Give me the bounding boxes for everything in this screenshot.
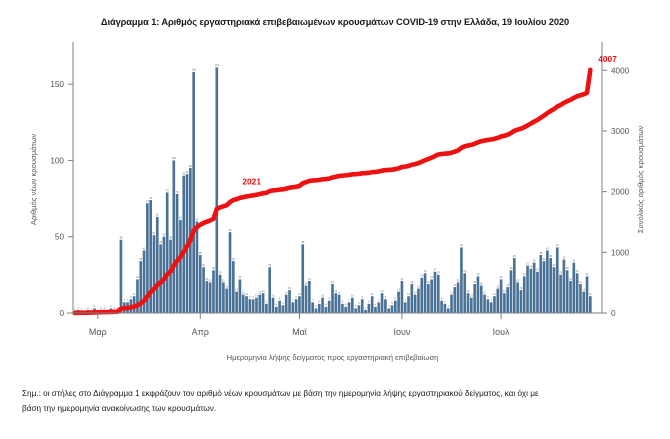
bar-value-label: 12 <box>483 290 486 294</box>
bar <box>391 305 394 313</box>
bar <box>285 295 288 313</box>
bar-value-label: 60 <box>196 217 199 221</box>
bar-value-label: 79 <box>166 188 169 192</box>
bar-value-label: 12 <box>414 290 417 294</box>
bar-value-label: 7 <box>312 298 314 302</box>
bar <box>368 304 371 313</box>
bar <box>543 261 546 313</box>
bar <box>166 192 169 313</box>
bar-value-label: 41 <box>546 246 549 250</box>
bar <box>252 299 255 313</box>
bar <box>411 284 414 313</box>
bar-value-label: 26 <box>424 269 427 273</box>
bar-value-label: 28 <box>566 266 569 270</box>
bar-value-label: 7 <box>490 298 492 302</box>
x-tick-label: Ιουν <box>393 327 410 337</box>
y-tick-label-right: 3000 <box>611 127 630 136</box>
bar <box>582 292 585 313</box>
bar-value-label: 2 <box>365 306 367 310</box>
bar <box>553 267 556 313</box>
bar-value-label: 3 <box>388 304 390 308</box>
bar-value-label: 9 <box>362 295 364 299</box>
bar <box>348 302 351 313</box>
bar-value-label: 11 <box>371 292 374 296</box>
bar <box>394 301 397 313</box>
bar-value-label: 48 <box>169 236 172 240</box>
bar <box>374 307 377 313</box>
bar <box>341 304 344 313</box>
bar <box>470 298 473 313</box>
bar <box>530 269 533 313</box>
bar-value-label: 2 <box>104 306 106 310</box>
bar <box>272 298 275 313</box>
y-axis-title-left: Αριθμός νέων κρουσμάτων <box>29 134 38 225</box>
bar <box>483 295 486 313</box>
bar <box>453 287 456 313</box>
bar <box>480 286 483 313</box>
bar-value-label: 38 <box>199 251 202 255</box>
bar-value-label: 3 <box>110 304 112 308</box>
bar-value-label: 43 <box>556 243 559 247</box>
bar-value-label: 11 <box>245 292 248 296</box>
bar <box>331 284 334 313</box>
bar <box>288 290 291 313</box>
bar-value-label: 13 <box>503 289 506 293</box>
bar <box>229 232 232 313</box>
bar <box>209 282 212 313</box>
bar <box>301 244 304 313</box>
bar <box>344 307 347 313</box>
bar-value-label: 61 <box>179 216 182 220</box>
bar-value-label: 2 <box>77 306 79 310</box>
bar-value-label: 7 <box>378 298 380 302</box>
y-axis-title-right: Συνολικός αριθμός κρουσμάτων <box>636 126 645 234</box>
bar-value-label: 11 <box>298 292 301 296</box>
bar-value-label: 34 <box>232 257 235 261</box>
bar-value-label: 20 <box>457 278 460 282</box>
bar <box>407 296 410 313</box>
bar-value-label: 7 <box>127 298 129 302</box>
bar-value-label: 9 <box>487 295 489 299</box>
bar <box>153 235 156 313</box>
bar-value-label: 48 <box>119 236 122 240</box>
bar-value-label: 91 <box>186 170 189 174</box>
bar-value-label: 25 <box>559 271 562 275</box>
bar-value-label: 2 <box>100 306 102 310</box>
bar-value-label: 11 <box>589 292 592 296</box>
bar <box>523 276 526 313</box>
bar-value-label: 21 <box>400 277 403 281</box>
bar <box>586 276 589 313</box>
bar-value-label: 12 <box>285 290 288 294</box>
bar-value-label: 13 <box>262 289 265 293</box>
bar <box>384 299 387 313</box>
annotation-label: 4007 <box>598 54 617 64</box>
bar-value-label: 22 <box>500 275 503 279</box>
bar <box>255 298 258 313</box>
bar <box>503 293 506 313</box>
bar-value-label: 19 <box>473 280 476 284</box>
bar <box>311 302 314 313</box>
bar <box>424 273 427 313</box>
bar <box>463 273 466 313</box>
bar-value-label: 22 <box>430 275 433 279</box>
chart-plot-area: 1212131223224877911223441727451634550794… <box>0 0 670 439</box>
bar-value-label: 53 <box>229 228 232 232</box>
chart-footnote: Σημ.: οι στήλες στο Διάγραμμα 1 εκφράζου… <box>22 386 652 416</box>
bar <box>242 295 245 313</box>
bar <box>460 247 463 313</box>
bar <box>282 305 285 313</box>
annotation-label: 2021 <box>242 176 261 186</box>
bar <box>354 308 357 313</box>
bar-value-label: 26 <box>463 269 466 273</box>
bar <box>526 266 529 313</box>
bar-value-label: 25 <box>437 271 440 275</box>
bar-value-label: 9 <box>385 295 387 299</box>
bar-value-label: 3 <box>315 304 317 308</box>
bar-value-label: 16 <box>496 284 499 288</box>
bar <box>305 286 308 313</box>
bar <box>493 296 496 313</box>
bar <box>576 273 579 313</box>
x-tick-label: Ιουλ <box>493 327 510 337</box>
bar <box>338 295 341 313</box>
bar-value-label: 5 <box>282 301 284 305</box>
bar <box>437 275 440 313</box>
bar <box>510 270 513 313</box>
bar <box>202 267 205 313</box>
bar-value-label: 21 <box>308 277 311 281</box>
bar-value-label: 33 <box>533 258 536 262</box>
bar <box>377 302 380 313</box>
bar <box>536 272 539 313</box>
bar <box>268 267 271 313</box>
bar <box>182 176 185 313</box>
bar <box>315 308 318 313</box>
bar-value-label: 100 <box>172 156 177 160</box>
bar <box>490 302 493 313</box>
bar-value-label: 41 <box>143 246 146 250</box>
bar <box>196 221 199 313</box>
bar-value-label: 45 <box>301 240 304 244</box>
bar <box>447 308 450 313</box>
bar-value-label: 11 <box>407 292 410 296</box>
bar-value-label: 21 <box>569 277 572 281</box>
bar-value-label: 6 <box>266 300 268 304</box>
bar-value-label: 27 <box>536 268 539 272</box>
bar <box>404 302 407 313</box>
bar-value-label: 8 <box>395 297 397 301</box>
bar-value-label: 34 <box>543 257 546 261</box>
bar-value-label: 12 <box>338 290 341 294</box>
y-tick-label-left: 0 <box>59 309 64 318</box>
bar-value-label: 17 <box>506 283 509 287</box>
bar <box>176 194 179 313</box>
bar <box>321 298 324 313</box>
bar <box>520 290 523 313</box>
bar-value-label: 17 <box>453 283 456 287</box>
bar <box>192 72 195 313</box>
bar-value-label: 24 <box>523 272 526 276</box>
bar-value-label: 5 <box>391 301 393 305</box>
bar-value-label: 13 <box>467 289 470 293</box>
bar-value-label: 51 <box>153 231 156 235</box>
bar <box>513 258 516 313</box>
bar-value-label: 10 <box>272 294 275 298</box>
bar <box>420 278 423 313</box>
bar-value-label: 6 <box>368 300 370 304</box>
bar <box>245 296 248 313</box>
bar-value-label: 10 <box>321 294 324 298</box>
bar-value-label: 30 <box>553 263 556 267</box>
bar <box>397 292 400 313</box>
bar <box>434 272 437 313</box>
bar <box>569 281 572 313</box>
bar <box>179 220 182 313</box>
bar-value-label: 26 <box>576 269 579 273</box>
bar <box>275 307 278 313</box>
bar <box>262 293 265 313</box>
bar <box>298 296 301 313</box>
bar <box>496 289 499 313</box>
bar <box>440 301 443 313</box>
footnote-line-2: βάση την ημερομηνία ανακοίνωσης των κρου… <box>22 401 652 416</box>
bar-value-label: 4 <box>276 303 278 307</box>
bar <box>444 304 447 313</box>
bar <box>206 281 209 313</box>
y-tick-label-left: 50 <box>55 233 65 242</box>
bar <box>212 270 215 313</box>
y-tick-label-right: 2000 <box>611 188 630 197</box>
bar-value-label: 158 <box>191 68 196 72</box>
bar-value-label: 11 <box>493 292 496 296</box>
bar-value-label: 29 <box>529 265 532 269</box>
bar <box>430 279 433 313</box>
bar <box>278 301 281 313</box>
bar-value-label: 19 <box>410 280 413 284</box>
bar-value-label: 24 <box>477 272 480 276</box>
bar-value-label: 95 <box>189 164 192 168</box>
bar <box>318 304 321 313</box>
bar-value-label: 11 <box>133 292 136 296</box>
bar-value-label: 45 <box>159 240 162 244</box>
bar-value-label: 78 <box>176 190 179 194</box>
bar <box>120 240 123 313</box>
bar <box>539 255 542 313</box>
bar <box>473 284 476 313</box>
bar <box>589 296 592 313</box>
bar <box>325 307 328 313</box>
bar <box>361 299 364 313</box>
y-tick-label-right: 4000 <box>611 66 630 75</box>
bar-value-label: 18 <box>480 281 483 285</box>
bar-value-label: 6 <box>342 300 344 304</box>
bar-value-label: 7 <box>348 298 350 302</box>
bar-value-label: 6 <box>319 300 321 304</box>
bar-value-label: 36 <box>549 254 552 258</box>
bar-value-label: 3 <box>447 304 449 308</box>
bar-value-label: 2 <box>114 306 116 310</box>
bar <box>215 67 218 313</box>
bar-value-label: 16 <box>417 284 420 288</box>
bar <box>358 305 361 313</box>
bar-value-label: 38 <box>539 251 542 255</box>
bar-value-label: 36 <box>513 254 516 258</box>
bar-value-label: 19 <box>427 280 430 284</box>
bar-value-label: 8 <box>279 297 281 301</box>
bar <box>235 292 238 313</box>
bar-value-label: 161 <box>215 63 220 67</box>
bar <box>556 247 559 313</box>
bar <box>265 304 268 313</box>
bar <box>225 289 228 313</box>
bar-value-label: 35 <box>562 255 565 259</box>
bar <box>239 279 242 313</box>
bar-value-label: 8 <box>441 297 443 301</box>
bar-value-label: 7 <box>292 298 294 302</box>
bar-value-label: 3 <box>355 304 357 308</box>
bar-value-label: 19 <box>331 280 334 284</box>
bar-value-label: 4 <box>345 303 347 307</box>
bar-value-label: 19 <box>579 280 582 284</box>
bar-value-label: 50 <box>162 233 165 237</box>
bar <box>417 289 420 313</box>
bar-value-label: 23 <box>420 274 423 278</box>
bar <box>506 287 509 313</box>
bar <box>173 160 176 313</box>
bar-value-label: 4 <box>375 303 377 307</box>
bar <box>371 296 374 313</box>
bar-value-label: 28 <box>510 266 513 270</box>
bar <box>156 217 159 313</box>
bar-value-label: 14 <box>235 287 238 291</box>
bar <box>546 250 549 313</box>
y-tick-label-left: 150 <box>50 80 64 89</box>
bar-value-label: 24 <box>586 272 589 276</box>
bar-value-label: 63 <box>156 213 159 217</box>
y-tick-label-right: 1000 <box>611 248 630 257</box>
x-tick-label: Απρ <box>192 327 209 337</box>
bar-value-label: 7 <box>405 298 407 302</box>
bar-value-label: 30 <box>202 263 205 267</box>
bar-value-label: 5 <box>358 301 360 305</box>
bar <box>292 302 295 313</box>
bar <box>232 261 235 313</box>
bar-value-label: 2 <box>87 306 89 310</box>
bar-value-label: 20 <box>516 278 519 282</box>
bar-value-label: 10 <box>351 294 354 298</box>
bar-value-label: 8 <box>328 297 330 301</box>
bar <box>566 270 569 313</box>
bar-value-label: 20 <box>209 278 212 282</box>
bar-value-label: 28 <box>212 266 215 270</box>
y-tick-label-left: 100 <box>50 156 64 165</box>
bar <box>559 275 562 313</box>
bar-value-label: 13 <box>381 289 384 293</box>
x-tick-label: Μαρ <box>89 327 107 337</box>
bar-value-label: 43 <box>460 243 463 247</box>
bar <box>169 240 172 313</box>
bar-value-label: 30 <box>268 263 271 267</box>
bar <box>401 281 404 313</box>
bar-value-label: 6 <box>444 300 446 304</box>
bar <box>249 299 252 313</box>
bar-value-label: 74 <box>149 196 152 200</box>
bar-value-label: 4 <box>325 303 327 307</box>
bar-value-label: 34 <box>139 257 142 261</box>
bar-value-label: 20 <box>222 278 225 282</box>
bar <box>381 293 384 313</box>
bar-value-label: 9 <box>249 295 251 299</box>
bar-value-label: 10 <box>470 294 473 298</box>
bar <box>457 282 460 313</box>
bar-value-label: 15 <box>519 286 522 290</box>
bar <box>258 295 261 313</box>
bar <box>351 298 354 313</box>
x-tick-label: Μαϊ <box>292 327 308 337</box>
bar <box>500 279 503 313</box>
bar-value-label: 12 <box>450 290 453 294</box>
bar-value-label: 7 <box>124 298 126 302</box>
bar <box>387 308 390 313</box>
bar <box>308 281 311 313</box>
bar <box>414 295 417 313</box>
footnote-line-1: Σημ.: οι στήλες στο Διάγραμμα 1 εκφράζου… <box>22 386 652 401</box>
bar <box>487 299 490 313</box>
bar <box>295 299 298 313</box>
bar <box>328 301 331 313</box>
bar-value-label: 18 <box>305 281 308 285</box>
bar-value-label: 33 <box>572 258 575 262</box>
x-axis-title: Ημερομηνία λήψης δείγματος προς εργαστηρ… <box>227 353 439 362</box>
bar <box>334 293 337 313</box>
bar-value-label: 16 <box>225 284 228 288</box>
y-tick-label-right: 0 <box>611 309 616 318</box>
bar-value-label: 3 <box>94 304 96 308</box>
bar-value-label: 22 <box>238 275 241 279</box>
chart-figure: Διάγραμμα 1: Αριθμός εργαστηριακά επιβεβ… <box>0 0 670 439</box>
bar-value-label: 25 <box>219 271 222 275</box>
bar-value-label: 22 <box>136 275 139 279</box>
bar-value-label: 15 <box>288 286 291 290</box>
bar <box>450 295 453 313</box>
bar <box>427 284 430 313</box>
bar-value-label: 14 <box>397 287 400 291</box>
bar-value-label: 14 <box>582 287 585 291</box>
